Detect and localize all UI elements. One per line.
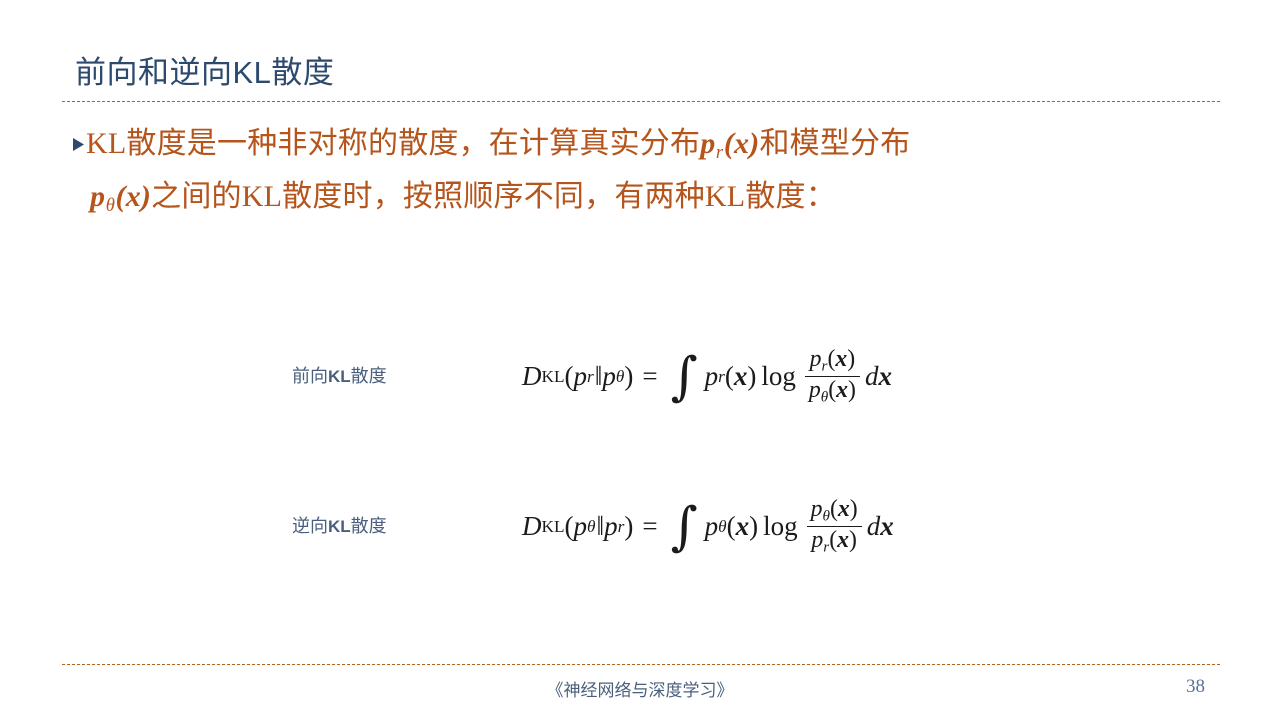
formula-row-forward-kl: 前向KL散度 DKL(pr‖pθ) = ∫ pr(x) log pr(x) pθ… (292, 348, 892, 405)
eq2-integrand-sub: θ (718, 518, 726, 535)
eq-D: D (522, 363, 542, 390)
math-symbol-p-theta: p (90, 180, 105, 213)
eq-lhs-p1-sub: r (587, 368, 594, 385)
eq2-open-paren: ( (565, 513, 574, 540)
eq2-integrand-p: p (705, 513, 719, 540)
footer-page-number: 38 (1186, 676, 1205, 698)
label-latin-kl: KL (328, 367, 351, 386)
bullet-block: KL散度是一种非对称的散度，在计算真实分布pr(x)和模型分布 pθ(x)之间的… (72, 122, 1182, 228)
eq-lhs-p1: p (574, 363, 588, 390)
bullet-row: KL散度是一种非对称的散度，在计算真实分布pr(x)和模型分布 pθ(x)之间的… (72, 122, 1182, 228)
eq2-den-x: x (837, 527, 849, 553)
bullet-line1-math-p: pr(x) (700, 127, 759, 160)
eq-integrand-close: ) (747, 363, 756, 390)
eq2-fraction-denominator: pr(x) (807, 527, 861, 555)
triangle-right-icon (72, 137, 85, 152)
equation-forward-kl: DKL(pr‖pθ) = ∫ pr(x) log pr(x) pθ(x) dx (522, 348, 892, 405)
eq-lhs-p2: p (602, 363, 616, 390)
eq-fraction-denominator: pθ(x) (805, 377, 860, 405)
label-latin-kl-2: KL (328, 517, 351, 536)
label-cn-prefix: 前向 (292, 366, 328, 386)
eq2-differential-d: d (867, 513, 881, 540)
bullet-line1-text-b: 和模型分布 (759, 127, 910, 160)
eq-open-paren: ( (565, 363, 574, 390)
math-subscript-r: r (715, 142, 723, 163)
eq2-lhs-p2: p (604, 513, 618, 540)
eq2-integrand-open: ( (727, 513, 736, 540)
eq-den-p: p (809, 377, 821, 403)
math-arg-x-2: (x) (116, 180, 152, 213)
footer-divider (62, 664, 1220, 665)
integral-icon: ∫ (671, 359, 698, 396)
eq-integrand-x: x (734, 363, 748, 390)
bullet-line2: pθ(x)之间的KL散度时，按照顺序不同，有两种KL散度： (86, 175, 1182, 228)
eq-lhs-p2-sub: θ (616, 368, 624, 385)
eq2-den-open: ( (829, 527, 837, 553)
footer-book-title: 《神经网络与深度学习》 (0, 676, 1280, 701)
bullet-line2-math-p: pθ(x) (90, 180, 151, 213)
title-divider (62, 101, 1220, 102)
bullet-line2-text: 之间的KL散度时，按照顺序不同，有两种KL散度： (151, 180, 836, 213)
math-subscript-theta: θ (105, 195, 115, 216)
bullet-paragraph: KL散度是一种非对称的散度，在计算真实分布pr(x)和模型分布 pθ(x)之间的… (86, 122, 1182, 228)
eq2-integrand-close: ) (749, 513, 758, 540)
page-title: 前向和逆向KL散度 (75, 52, 334, 94)
equation-reverse-kl: DKL(pθ‖pr) = ∫ pθ(x) log pθ(x) pr(x) dx (522, 498, 894, 555)
eq2-fraction: pθ(x) pr(x) (807, 498, 862, 555)
eq-den-x: x (836, 377, 848, 403)
eq2-integrand-x: x (736, 513, 750, 540)
eq2-num-x: x (838, 496, 850, 522)
label-cn-prefix-2: 逆向 (292, 516, 328, 536)
eq2-differential-x: x (880, 513, 894, 540)
eq-differential-x: x (878, 363, 892, 390)
eq2-close-paren: ) (624, 513, 633, 540)
bullet-line1-text-a: KL散度是一种非对称的散度，在计算真实分布 (86, 127, 700, 160)
eq-fraction: pr(x) pθ(x) (805, 348, 860, 405)
eq-differential-d: d (865, 363, 879, 390)
eq2-num-sub: θ (823, 508, 830, 525)
formula-row-reverse-kl: 逆向KL散度 DKL(pθ‖pr) = ∫ pθ(x) log pθ(x) pr… (292, 498, 894, 555)
eq2-log-operator: log (763, 513, 798, 540)
eq-integrand-open: ( (725, 363, 734, 390)
eq-den-close: ) (848, 377, 856, 403)
eq-close-paren: ) (624, 363, 633, 390)
eq2-den-p: p (811, 527, 823, 553)
eq-integrand-sub: r (718, 368, 725, 385)
eq2-D: D (522, 513, 542, 540)
eq2-lhs-p1-sub: θ (587, 518, 595, 535)
eq2-num-close: ) (850, 496, 858, 522)
eq2-num-p: p (811, 496, 823, 522)
formula-label-forward-kl: 前向KL散度 (292, 363, 522, 390)
eq-D-subscript: KL (542, 368, 565, 385)
eq2-fraction-numerator: pθ(x) (807, 498, 862, 526)
label-cn-suffix: 散度 (351, 366, 387, 386)
eq-num-close: ) (847, 346, 855, 372)
math-symbol-p: p (700, 127, 715, 160)
label-cn-suffix-2: 散度 (351, 516, 387, 536)
eq2-D-subscript: KL (542, 518, 565, 535)
eq2-num-open: ( (830, 496, 838, 522)
formula-label-reverse-kl: 逆向KL散度 (292, 513, 522, 540)
eq-log-operator: log (761, 363, 796, 390)
eq-equals-sign: = (642, 363, 657, 390)
eq-den-open: ( (828, 377, 836, 403)
eq-fraction-numerator: pr(x) (806, 348, 860, 376)
eq2-equals-sign: = (642, 513, 657, 540)
eq-integrand-p: p (705, 363, 719, 390)
eq2-parallel-bar: ‖ (596, 513, 605, 540)
integral-icon-2: ∫ (671, 509, 698, 546)
eq2-lhs-p2-sub: r (618, 518, 625, 535)
eq2-den-close: ) (849, 527, 857, 553)
eq-num-x: x (835, 346, 847, 372)
eq-num-p: p (810, 346, 822, 372)
eq2-lhs-p1: p (574, 513, 588, 540)
math-arg-x: (x) (724, 127, 760, 160)
